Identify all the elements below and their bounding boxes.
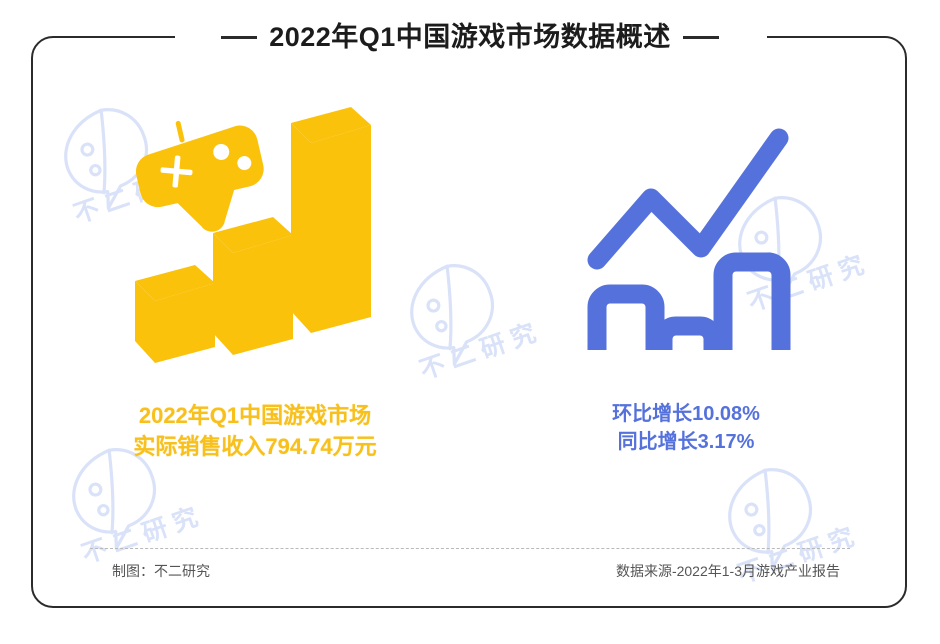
page-title-block: 2022年Q1中国游戏市场数据概述 [160,14,780,60]
bar-chart-trend-up-icon [583,120,793,350]
panel-revenue: 2022年Q1中国游戏市场 实际销售收入794.74万元 [31,70,469,540]
infographic-canvas: 不 二 研 究 不 二 研 究 不 二 研 究 [0,0,940,644]
title-rule-left [221,36,257,39]
growth-icon-area [469,70,907,400]
growth-caption: 环比增长10.08% 同比增长3.17% [612,400,760,457]
panel-growth: 环比增长10.08% 同比增长3.17% [469,70,907,540]
footer-source: 数据来源-2022年1-3月游戏产业报告 [616,561,840,581]
growth-caption-line-1: 环比增长10.08% [612,400,760,428]
revenue-caption-line-1: 2022年Q1中国游戏市场 [133,400,376,431]
revenue-caption: 2022年Q1中国游戏市场 实际销售收入794.74万元 [133,400,376,462]
content-columns: 2022年Q1中国游戏市场 实际销售收入794.74万元 [31,70,907,540]
footer-row: 制图：不二研究 数据来源-2022年1-3月游戏产业报告 [90,561,850,581]
page-title: 2022年Q1中国游戏市场数据概述 [269,24,671,51]
revenue-caption-line-2: 实际销售收入794.74万元 [133,431,376,462]
footer-credit: 制图：不二研究 [112,561,210,581]
growth-caption-line-2: 同比增长3.17% [612,428,760,456]
isometric-bar-chart-with-gamepad-icon [125,105,375,365]
revenue-icon-area [31,70,469,400]
footer-divider [90,548,850,549]
title-rule-right [683,36,719,39]
footer: 制图：不二研究 数据来源-2022年1-3月游戏产业报告 [90,548,850,581]
